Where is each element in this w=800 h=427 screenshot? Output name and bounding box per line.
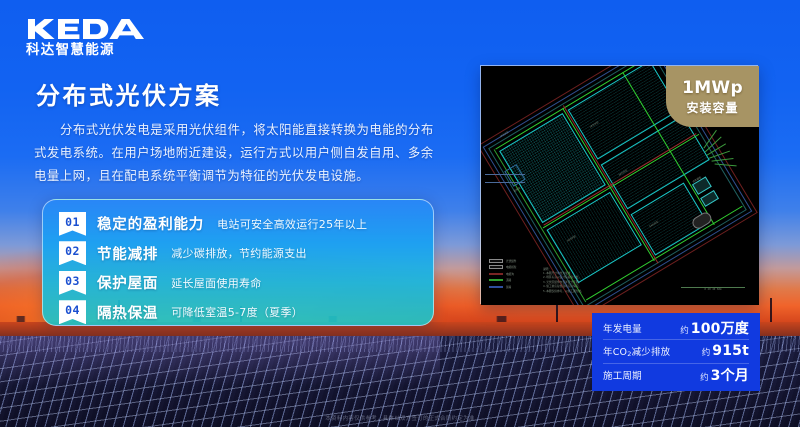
feature-title: 隔热保温 (97, 302, 158, 323)
stat-label: 年CO2减少排放 (603, 344, 670, 358)
pylon-icon (556, 302, 558, 324)
legend-item: 光伏组件 (489, 259, 547, 263)
legend-item: 道路 (489, 278, 547, 282)
stat-approx: 约 (700, 371, 709, 383)
stat-approx: 约 (702, 346, 711, 358)
keda-logo-icon (26, 16, 144, 42)
legend-item: 电缆沟 (489, 272, 547, 276)
stat-row: 年发电量 约 100万度 (603, 317, 749, 340)
stat-label-rest: 减少排放 (632, 347, 671, 358)
feature-desc: 可降低室温5-7度（夏季） (171, 304, 303, 320)
legend-swatch-icon (489, 279, 503, 281)
legend-label: 光伏组件 (506, 259, 516, 263)
legend-label: 道路 (506, 278, 511, 282)
legend-label: 电缆桥架 (506, 265, 516, 269)
stat-value-group: 约 100万度 (680, 318, 749, 338)
cad-canvas: 1#光伏区 2#光伏区 3#光伏区 4#光伏区 5#光伏区 逆变器室 配电房 光… (481, 66, 759, 305)
cad-scale-bar: 0 20 40 60m (681, 287, 745, 291)
capacity-badge: 1MWp 安装容量 (666, 66, 759, 127)
feature-desc: 减少碳排放，节约能源支出 (171, 245, 307, 261)
stat-label: 年发电量 (603, 321, 642, 335)
cad-note-line: 5.本图仅供参考，以施工图为准。 (543, 289, 635, 293)
brand-logo-cn: 科达智慧能源 (26, 44, 146, 58)
stat-label-subscript: 2 (627, 350, 631, 358)
stat-label-main: 年CO (603, 347, 627, 358)
feature-row[interactable]: 03 保护屋面 延长屋面使用寿命 (43, 268, 433, 298)
legend-swatch-icon (489, 259, 503, 263)
footer-disclaimer: 本资料内容仅供参考，具体以双方签订的正式合同约定为准 (0, 414, 800, 422)
cad-legend: 光伏组件 电缆桥架 电缆沟 道路 围墙 (489, 259, 547, 292)
cad-notes: 说明： 1.本图尺寸单位为毫米。 2.场区标高以设计院提供为准。 3.光伏区组件… (543, 267, 635, 293)
feature-desc: 延长屋面使用寿命 (171, 275, 261, 291)
legend-label: 围墙 (506, 285, 511, 289)
slide-root: 科达智慧能源 分布式光伏方案 分布式光伏发电是采用光伏组件，将太阳能直接转换为电… (0, 0, 800, 427)
feature-list-card: 01 稳定的盈利能力 电站可安全高效运行25年以上 02 节能减排 减少碳排放，… (42, 199, 434, 326)
cad-site-plan-panel[interactable]: 1#光伏区 2#光伏区 3#光伏区 4#光伏区 5#光伏区 逆变器室 配电房 光… (481, 66, 759, 305)
feature-title: 稳定的盈利能力 (97, 213, 204, 234)
stat-row: 施工周期 约 3个月 (603, 364, 749, 387)
page-title: 分布式光伏方案 (36, 76, 222, 111)
feature-row[interactable]: 02 节能减排 减少碳排放，节约能源支出 (43, 239, 433, 269)
feature-number-badge: 01 (59, 212, 86, 236)
scale-bar-label: 0 20 40 60m (681, 288, 745, 291)
stat-approx: 约 (680, 324, 689, 336)
intro-paragraph: 分布式光伏发电是采用光伏组件，将太阳能直接转换为电能的分布式发电系统。在用户场地… (34, 118, 438, 187)
pylon-icon (770, 298, 772, 322)
stat-row: 年CO2减少排放 约 915t (603, 340, 749, 363)
feature-number-badge: 03 (59, 271, 86, 295)
feature-row[interactable]: 04 隔热保温 可降低室温5-7度（夏季） (43, 298, 433, 328)
stat-value-group: 约 3个月 (700, 365, 749, 385)
feature-number-badge: 02 (59, 241, 86, 265)
feature-title: 节能减排 (97, 243, 158, 264)
feature-desc: 电站可安全高效运行25年以上 (217, 216, 367, 232)
brand-logo: 科达智慧能源 (26, 16, 146, 58)
stat-value-group: 约 915t (702, 343, 749, 359)
legend-label: 电缆沟 (506, 272, 514, 276)
stat-value: 915t (712, 343, 749, 359)
capacity-label: 安装容量 (686, 99, 738, 116)
legend-item: 围墙 (489, 285, 547, 289)
capacity-value: 1MWp (682, 78, 743, 98)
stat-label: 施工周期 (603, 368, 642, 382)
feature-number-badge: 04 (59, 300, 86, 324)
feature-title: 保护屋面 (97, 272, 158, 293)
legend-item: 电缆桥架 (489, 265, 547, 269)
stats-panel: 年发电量 约 100万度 年CO2减少排放 约 915t 施工周期 约 3个月 (592, 313, 760, 391)
stat-value: 100万度 (691, 318, 749, 338)
legend-swatch-icon (489, 273, 503, 275)
stat-value: 3个月 (711, 365, 749, 385)
legend-swatch-icon (489, 286, 503, 288)
feature-row[interactable]: 01 稳定的盈利能力 电站可安全高效运行25年以上 (43, 209, 433, 239)
legend-swatch-icon (489, 265, 503, 269)
